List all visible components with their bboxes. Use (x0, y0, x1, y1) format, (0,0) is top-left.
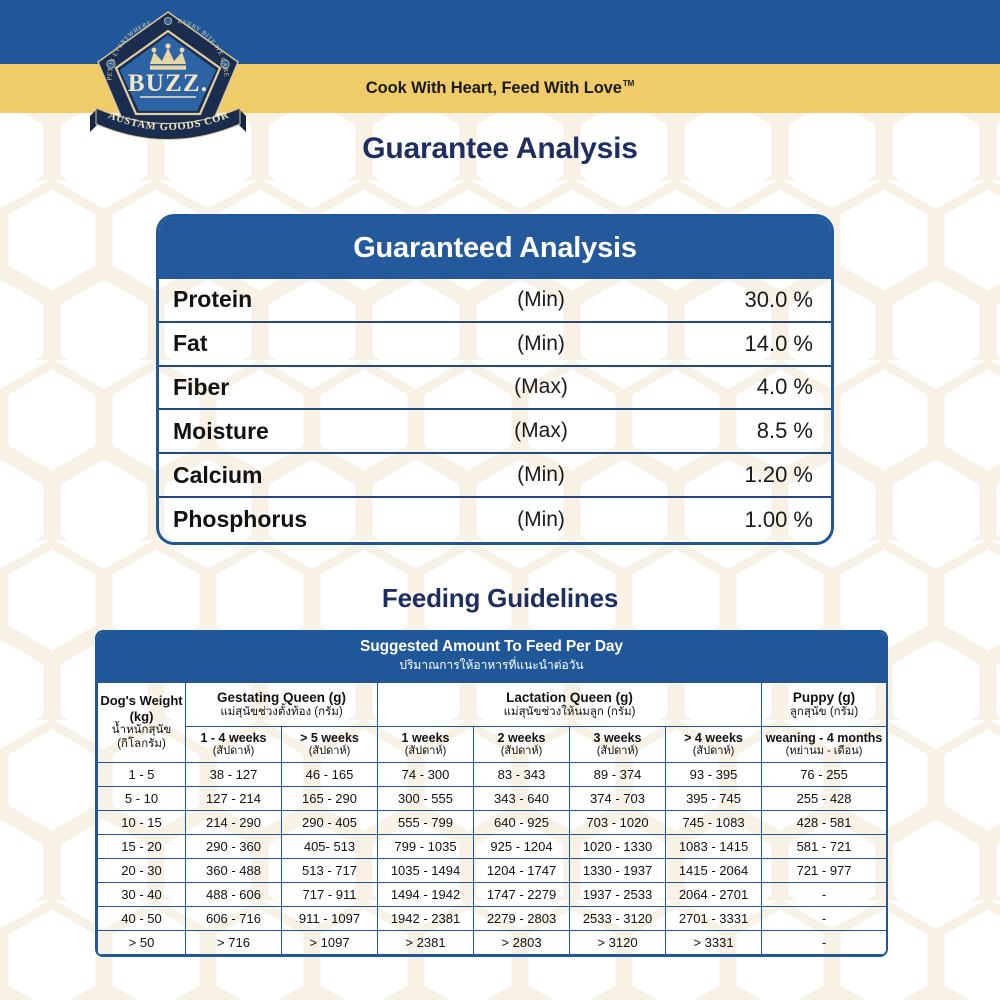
weight-cell: 15 - 20 (98, 835, 186, 859)
guaranteed-analysis-row: Protein(Min)30.0 % (159, 279, 831, 323)
feeding-amount-cell: 74 - 300 (378, 763, 474, 787)
feeding-amount-cell: 300 - 555 (378, 787, 474, 811)
feeding-sub-header-th: (สัปดาห์) (283, 745, 376, 757)
feeding-amount-cell: 721 - 977 (762, 859, 887, 883)
brand-logo: BUZZ. PET IS EVERYWHERE EVERY BITE WE CA… (78, 4, 258, 144)
nutrient-qualifier: (Min) (441, 332, 641, 356)
logo-stud-top (164, 17, 171, 24)
feeding-amount-cell: 1415 - 2064 (666, 859, 762, 883)
nutrient-qualifier: (Min) (441, 288, 641, 312)
feeding-amount-cell: 925 - 1204 (474, 835, 570, 859)
feeding-amount-cell: - (762, 931, 887, 955)
nutrient-value: 1.00 % (641, 507, 817, 533)
header-gestating-queen-en: Gestating Queen (g) (217, 690, 346, 705)
feeding-amount-cell: 46 - 165 (282, 763, 378, 787)
feeding-amount-cell: 343 - 640 (474, 787, 570, 811)
feeding-amount-cell: 1083 - 1415 (666, 835, 762, 859)
feeding-table-title: Suggested Amount To Feed Per Day ปริมาณก… (97, 632, 886, 682)
feeding-amount-cell: 214 - 290 (186, 811, 282, 835)
nutrient-qualifier: (Max) (441, 375, 641, 399)
feeding-table-body: 1 - 538 - 12746 - 16574 - 30083 - 34389 … (98, 763, 887, 955)
feeding-amount-cell: 165 - 290 (282, 787, 378, 811)
feeding-amount-cell: 405- 513 (282, 835, 378, 859)
feeding-amount-cell: 799 - 1035 (378, 835, 474, 859)
nutrient-name: Protein (173, 286, 441, 313)
feeding-amount-cell: > 716 (186, 931, 282, 955)
table-row: 30 - 40488 - 606717 - 9111494 - 19421747… (98, 883, 887, 907)
table-row: 1 - 538 - 12746 - 16574 - 30083 - 34389 … (98, 763, 887, 787)
nutrient-qualifier: (Max) (441, 419, 641, 443)
header-lactation-queen-en: Lactation Queen (g) (506, 690, 633, 705)
feeding-amount-cell: - (762, 907, 887, 931)
weight-cell: 20 - 30 (98, 859, 186, 883)
weight-cell: 10 - 15 (98, 811, 186, 835)
feeding-table-group-header-row: Dog's Weight (kg) น้ำหนักสุนัข (กิโลกรัม… (98, 683, 887, 727)
feeding-sub-header: 2 weeks(สัปดาห์) (474, 727, 570, 763)
feeding-amount-cell: 374 - 703 (570, 787, 666, 811)
feeding-amount-cell: 555 - 799 (378, 811, 474, 835)
feeding-amount-cell: 2701 - 3331 (666, 907, 762, 931)
nutrient-value: 4.0 % (641, 374, 817, 400)
feeding-table-title-th: ปริมาณการให้อาหารที่แนะนำต่อวัน (97, 656, 886, 675)
feeding-sub-header-en: 3 weeks (594, 731, 642, 745)
feeding-sub-header-th: (สัปดาห์) (475, 745, 568, 757)
guaranteed-analysis-rows: Protein(Min)30.0 %Fat(Min)14.0 %Fiber(Ma… (159, 279, 831, 542)
feeding-sub-header: 3 weeks(สัปดาห์) (570, 727, 666, 763)
trademark-symbol: TM (623, 79, 634, 88)
header-dog-weight-en2: (kg) (130, 709, 154, 724)
nutrient-value: 1.20 % (641, 462, 817, 488)
feeding-sub-header: > 4 weeks(สัปดาห์) (666, 727, 762, 763)
weight-cell: > 50 (98, 931, 186, 955)
feeding-sub-header-en: weaning - 4 months (766, 731, 883, 745)
feeding-sub-header-th: (สัปดาห์) (187, 745, 280, 757)
feeding-amount-cell: 38 - 127 (186, 763, 282, 787)
nutrient-name: Fiber (173, 374, 441, 401)
feeding-table: Dog's Weight (kg) น้ำหนักสุนัข (กิโลกรัม… (97, 682, 887, 955)
feeding-sub-header: 1 weeks(สัปดาห์) (378, 727, 474, 763)
feeding-sub-header-th: (สัปดาห์) (571, 745, 664, 757)
feeding-amount-cell: 1035 - 1494 (378, 859, 474, 883)
feeding-amount-cell: 703 - 1020 (570, 811, 666, 835)
weight-cell: 5 - 10 (98, 787, 186, 811)
feeding-table-card: Suggested Amount To Feed Per Day ปริมาณก… (95, 630, 888, 957)
feeding-amount-cell: 127 - 214 (186, 787, 282, 811)
nutrient-value: 30.0 % (641, 287, 817, 313)
feeding-amount-cell: 745 - 1083 (666, 811, 762, 835)
feeding-sub-header-en: > 5 weeks (300, 731, 359, 745)
feeding-table-sub-header-row: 1 - 4 weeks(สัปดาห์)> 5 weeks(สัปดาห์)1 … (98, 727, 887, 763)
feeding-sub-header-en: > 4 weeks (684, 731, 743, 745)
nutrient-name: Calcium (173, 462, 441, 489)
feeding-amount-cell: 1204 - 1747 (474, 859, 570, 883)
header-lactation-queen: Lactation Queen (g) แม่สุนัขช่วงให้นมลูก… (378, 683, 762, 727)
weight-cell: 40 - 50 (98, 907, 186, 931)
nutrient-value: 14.0 % (641, 331, 817, 357)
feeding-amount-cell: 290 - 405 (282, 811, 378, 835)
feeding-amount-cell: 513 - 717 (282, 859, 378, 883)
feeding-amount-cell: > 3120 (570, 931, 666, 955)
header-gestating-queen-th: แม่สุนัขช่วงตั้งท้อง (กรัม) (188, 706, 375, 719)
header-puppy-en: Puppy (g) (793, 690, 855, 705)
nutrient-name: Phosphorus (173, 506, 441, 533)
feeding-sub-header: 1 - 4 weeks(สัปดาห์) (186, 727, 282, 763)
header-lactation-queen-th: แม่สุนัขช่วงให้นมลูก (กรัม) (380, 706, 759, 719)
feeding-amount-cell: 2064 - 2701 (666, 883, 762, 907)
feeding-sub-header-en: 2 weeks (498, 731, 546, 745)
feeding-amount-cell: 89 - 374 (570, 763, 666, 787)
feeding-amount-cell: 255 - 428 (762, 787, 887, 811)
table-row: 5 - 10127 - 214165 - 290300 - 555343 - 6… (98, 787, 887, 811)
guaranteed-analysis-heading: Guaranteed Analysis (159, 217, 831, 279)
feeding-amount-cell: > 2803 (474, 931, 570, 955)
guaranteed-analysis-card: Guaranteed Analysis Protein(Min)30.0 %Fa… (156, 214, 834, 545)
feeding-amount-cell: - (762, 883, 887, 907)
feeding-amount-cell: 717 - 911 (282, 883, 378, 907)
table-row: 40 - 50606 - 716911 - 10971942 - 2381227… (98, 907, 887, 931)
header-dog-weight: Dog's Weight (kg) น้ำหนักสุนัข (กิโลกรัม… (98, 683, 186, 763)
nutrient-value: 8.5 % (641, 418, 817, 444)
feeding-guidelines-title: Feeding Guidelines (0, 583, 1000, 614)
brand-tagline-text: Cook With Heart, Feed With Love (366, 79, 622, 98)
guaranteed-analysis-row: Phosphorus(Min)1.00 % (159, 498, 831, 542)
feeding-sub-header-th: (หย่านม - เดือน) (763, 745, 885, 757)
logo-wordmark: BUZZ. (128, 70, 208, 97)
table-row: 10 - 15214 - 290290 - 405555 - 799640 - … (98, 811, 887, 835)
feeding-amount-cell: 83 - 343 (474, 763, 570, 787)
feeding-amount-cell: > 1097 (282, 931, 378, 955)
feeding-amount-cell: 76 - 255 (762, 763, 887, 787)
feeding-amount-cell: > 2381 (378, 931, 474, 955)
guaranteed-analysis-row: Fat(Min)14.0 % (159, 323, 831, 367)
feeding-amount-cell: 606 - 716 (186, 907, 282, 931)
guarantee-analysis-title: Guarantee Analysis (0, 132, 1000, 166)
table-row: 15 - 20290 - 360405- 513799 - 1035925 - … (98, 835, 887, 859)
feeding-sub-header-en: 1 - 4 weeks (200, 731, 266, 745)
feeding-amount-cell: 640 - 925 (474, 811, 570, 835)
header-dog-weight-th2: (กิโลกรัม) (100, 738, 183, 752)
feeding-sub-header-th: (สัปดาห์) (667, 745, 760, 757)
feeding-amount-cell: 1330 - 1937 (570, 859, 666, 883)
header-dog-weight-en1: Dog's Weight (100, 693, 182, 708)
feeding-amount-cell: 1747 - 2279 (474, 883, 570, 907)
feeding-amount-cell: 911 - 1097 (282, 907, 378, 931)
table-row: > 50> 716> 1097> 2381> 2803> 3120> 3331- (98, 931, 887, 955)
nutrient-qualifier: (Min) (441, 463, 641, 487)
header-dog-weight-th1: น้ำหนักสุนัข (100, 724, 183, 738)
weight-cell: 30 - 40 (98, 883, 186, 907)
feeding-amount-cell: 1937 - 2533 (570, 883, 666, 907)
header-puppy-th: ลูกสุนัข (กรัม) (764, 706, 884, 719)
header-puppy: Puppy (g) ลูกสุนัข (กรัม) (762, 683, 887, 727)
feeding-amount-cell: 1942 - 2381 (378, 907, 474, 931)
feeding-sub-header-en: 1 weeks (402, 731, 450, 745)
header-gestating-queen: Gestating Queen (g) แม่สุนัขช่วงตั้งท้อง… (186, 683, 378, 727)
feeding-sub-header: weaning - 4 months(หย่านม - เดือน) (762, 727, 887, 763)
table-row: 20 - 30360 - 488513 - 7171035 - 14941204… (98, 859, 887, 883)
feeding-amount-cell: 2533 - 3120 (570, 907, 666, 931)
feeding-sub-header: > 5 weeks(สัปดาห์) (282, 727, 378, 763)
feeding-table-head: Dog's Weight (kg) น้ำหนักสุนัข (กิโลกรัม… (98, 683, 887, 763)
feeding-amount-cell: 360 - 488 (186, 859, 282, 883)
feeding-table-title-en: Suggested Amount To Feed Per Day (97, 638, 886, 656)
nutrient-name: Fat (173, 330, 441, 357)
feeding-amount-cell: 1020 - 1330 (570, 835, 666, 859)
feeding-amount-cell: > 3331 (666, 931, 762, 955)
feeding-amount-cell: 488 - 606 (186, 883, 282, 907)
feeding-amount-cell: 581 - 721 (762, 835, 887, 859)
weight-cell: 1 - 5 (98, 763, 186, 787)
nutrient-qualifier: (Min) (441, 508, 641, 532)
feeding-amount-cell: 290 - 360 (186, 835, 282, 859)
guaranteed-analysis-row: Calcium(Min)1.20 % (159, 454, 831, 498)
feeding-amount-cell: 1494 - 1942 (378, 883, 474, 907)
feeding-amount-cell: 428 - 581 (762, 811, 887, 835)
nutrient-name: Moisture (173, 418, 441, 445)
feeding-amount-cell: 395 - 745 (666, 787, 762, 811)
guaranteed-analysis-row: Fiber(Max)4.0 % (159, 367, 831, 411)
feeding-amount-cell: 93 - 395 (666, 763, 762, 787)
guaranteed-analysis-row: Moisture(Max)8.5 % (159, 410, 831, 454)
feeding-sub-header-th: (สัปดาห์) (379, 745, 472, 757)
feeding-amount-cell: 2279 - 2803 (474, 907, 570, 931)
